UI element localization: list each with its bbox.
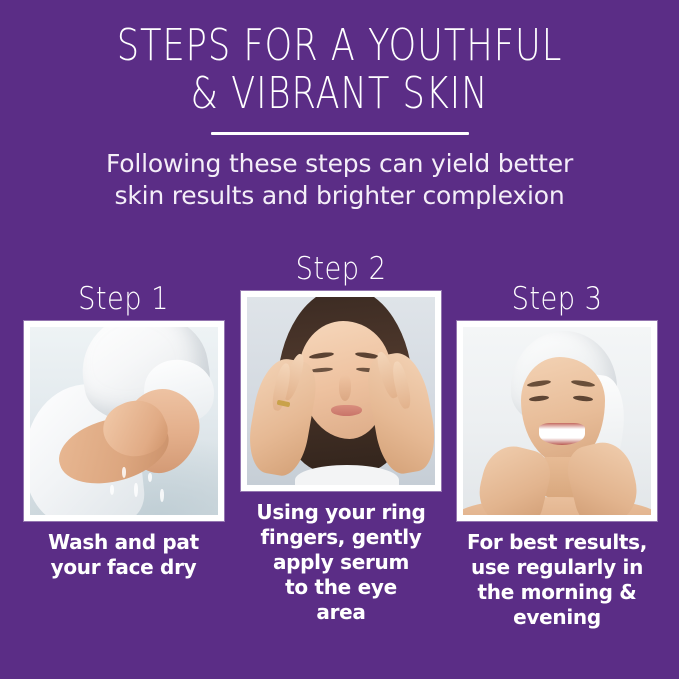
photo1-water-drop — [122, 467, 126, 478]
title-line-2: & VIBRANT SKIN — [68, 70, 611, 118]
step-1-caption-line-2: your face dry — [14, 555, 233, 580]
step-2-caption: Using your ring fingers, gently apply se… — [233, 500, 449, 625]
photo2-nose — [339, 375, 351, 401]
photo3-smile — [539, 423, 585, 445]
photo1-water-drop — [110, 485, 114, 495]
page-title: STEPS FOR A YOUTHFUL & VIBRANT SKIN — [68, 0, 611, 118]
step-2-caption-line-3: apply serum — [233, 550, 449, 575]
subtitle-line-1: Following these steps can yield better — [60, 148, 620, 180]
step-2-caption-line-5: area — [233, 600, 449, 625]
step-2-photo-frame — [241, 291, 441, 491]
step-2-photo — [247, 297, 435, 485]
title-divider — [211, 132, 469, 135]
infographic-header: STEPS FOR A YOUTHFUL & VIBRANT SKIN Foll… — [0, 0, 679, 212]
step-3-caption-line-1: For best results, — [449, 530, 665, 555]
step-1-caption: Wash and pat your face dry — [14, 530, 233, 580]
step-1-photo-frame — [24, 321, 224, 521]
step-1-caption-line-1: Wash and pat — [14, 530, 233, 555]
skincare-steps-infographic: STEPS FOR A YOUTHFUL & VIBRANT SKIN Foll… — [0, 0, 679, 679]
step-3-caption-line-2: use regularly in — [449, 555, 665, 580]
step-2-caption-line-4: to the eye — [233, 575, 449, 600]
step-3-caption-line-3: the morning & — [449, 580, 665, 605]
photo2-lips — [331, 405, 362, 416]
step-3-photo — [463, 327, 651, 515]
step-1-photo — [30, 327, 218, 515]
photo1-water-drop — [148, 473, 152, 482]
step-3-caption: For best results, use regularly in the m… — [449, 530, 665, 630]
page-subtitle: Following these steps can yield better s… — [60, 148, 620, 212]
subtitle-line-2: skin results and brighter complexion — [60, 180, 620, 212]
title-line-1: STEPS FOR A YOUTHFUL — [68, 22, 611, 70]
step-3-caption-line-4: evening — [449, 605, 665, 630]
steps-row: Step 1 Wash and pat your face dry — [0, 240, 679, 679]
photo1-water-drop — [134, 483, 138, 497]
step-card-1: Step 1 Wash and pat your face dry — [14, 282, 233, 580]
step-2-label: Step 2 — [246, 252, 436, 286]
step-1-label: Step 1 — [27, 282, 220, 316]
step-card-3: Step 3 For best results, — [449, 282, 665, 630]
photo1-water-drop — [160, 489, 164, 502]
step-3-label: Step 3 — [462, 282, 652, 316]
step-2-caption-line-1: Using your ring — [233, 500, 449, 525]
step-2-caption-line-2: fingers, gently — [233, 525, 449, 550]
step-card-2: Step 2 — [233, 252, 449, 625]
step-3-photo-frame — [457, 321, 657, 521]
